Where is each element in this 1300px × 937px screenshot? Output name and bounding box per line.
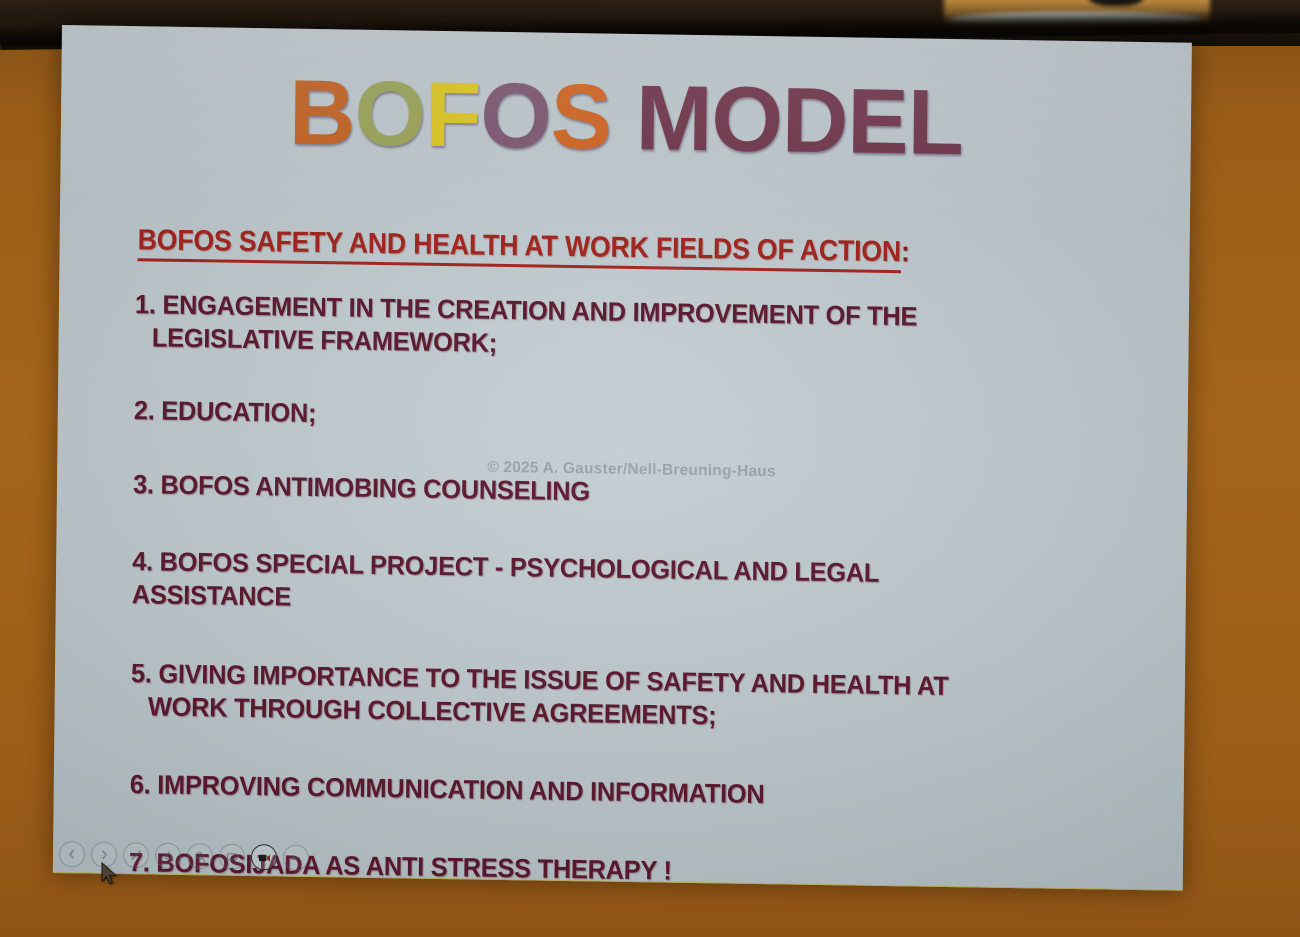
subtitle-colon: :	[901, 236, 910, 268]
list-item: 4. BOFOS SPECIAL PROJECT - PSYCHOLOGICAL…	[132, 545, 1073, 626]
title-letter-s: S	[550, 66, 611, 169]
title-letter-o1: O	[354, 63, 426, 166]
list-item: 1. ENGAGEMENT IN THE CREATION AND IMPROV…	[134, 288, 1075, 369]
exit-presentation-button[interactable]	[283, 845, 309, 871]
screen-icon	[225, 850, 239, 864]
title-letter-f: F	[425, 64, 481, 167]
title-letter-o2: O	[480, 65, 552, 168]
list-item-number: 3.	[133, 470, 154, 500]
pen-icon	[129, 848, 143, 862]
list-item-number: 4.	[132, 546, 153, 576]
room-photo: BOFOS MODEL BOFOS SAFETY AND HEALTH AT W…	[0, 0, 1300, 937]
slide-title: BOFOS MODEL	[61, 63, 1192, 173]
title-letter-b: B	[289, 62, 356, 165]
list-item: 6. IMPROVING COMMUNICATION AND INFORMATI…	[130, 768, 1071, 816]
list-item-number: 5.	[131, 658, 152, 688]
list-item-text-line2: ASSISTANCE	[132, 578, 1073, 626]
fields-of-action-list: 1. ENGAGEMENT IN THE CREATION AND IMPROV…	[129, 288, 1115, 891]
previous-slide-button[interactable]	[59, 841, 85, 867]
subtitle-text: BOFOS SAFETY AND HEALTH AT WORK FIELDS O…	[137, 224, 901, 273]
list-item-number: 2.	[134, 395, 155, 425]
presentation-toolbar[interactable]	[59, 841, 309, 871]
screen-view-button[interactable]	[219, 844, 245, 870]
list-item: 3. BOFOS ANTIMOBING COUNSELING	[133, 469, 1074, 517]
list-item-text: EDUCATION;	[161, 396, 316, 428]
video-camera-icon	[256, 851, 271, 864]
highlighter-icon	[161, 849, 174, 862]
magnifier-icon	[193, 850, 206, 863]
list-item-text-line2: LEGISLATIVE FRAMEWORK;	[134, 321, 1075, 369]
list-item-text: BOFOS ANTIMOBING COUNSELING	[160, 470, 590, 507]
zoom-tool-button[interactable]	[187, 843, 213, 869]
chevron-left-icon	[66, 848, 78, 860]
chevron-right-icon	[98, 849, 110, 861]
list-item: 5. GIVING IMPORTANCE TO THE ISSUE OF SAF…	[130, 657, 1071, 738]
list-item-number: 6.	[130, 769, 151, 799]
projection-screen: BOFOS MODEL BOFOS SAFETY AND HEALTH AT W…	[53, 25, 1192, 891]
record-button[interactable]	[251, 844, 277, 870]
pen-tool-button[interactable]	[123, 842, 149, 868]
list-item: 2. EDUCATION;	[134, 394, 1075, 442]
title-word-model: MODEL	[611, 67, 964, 175]
arrow-exit-icon	[289, 852, 303, 864]
title-model-text: MODEL	[635, 67, 963, 174]
slide-subtitle: BOFOS SAFETY AND HEALTH AT WORK FIELDS O…	[137, 224, 909, 269]
list-item-text: IMPROVING COMMUNICATION AND INFORMATION	[157, 770, 765, 810]
list-item-number: 1.	[135, 289, 156, 319]
highlighter-tool-button[interactable]	[155, 843, 181, 869]
presentation-slide: BOFOS MODEL BOFOS SAFETY AND HEALTH AT W…	[53, 25, 1192, 891]
